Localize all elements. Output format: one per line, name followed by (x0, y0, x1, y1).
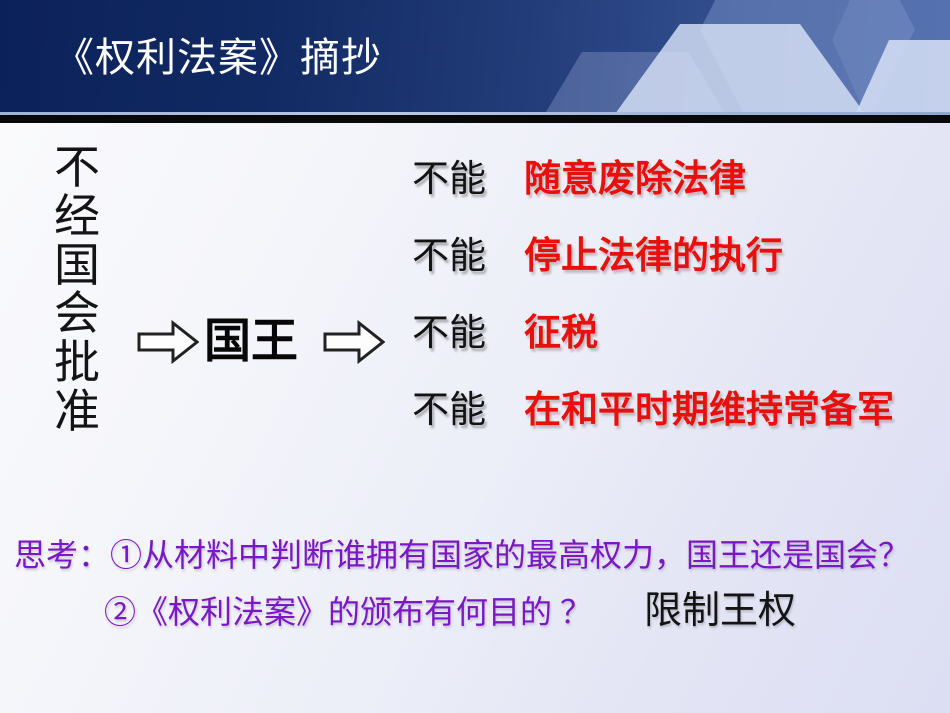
page-title: 《权利法案》摘抄 (54, 38, 382, 78)
restriction-modal-label: 不能 (412, 237, 524, 278)
restriction-list: 不能 随意废除法律 不能 停止法律的执行 不能 征税 不能 在和平时期维持常备军 (412, 160, 950, 468)
question-line-1: 思考：①从材料中判断谁拥有国家的最高权力，国王还是国会？ (14, 538, 950, 573)
vertical-clause-char: 不 (48, 144, 106, 193)
vertical-clause-text: 不 经 国 会 批 准 (48, 144, 106, 437)
restriction-row: 不能 征税 (412, 314, 950, 391)
king-diagram-group: 国王 (137, 307, 385, 377)
restriction-action-label: 在和平时期维持常备军 (524, 391, 894, 432)
block-arrow-right-icon (137, 320, 199, 364)
vertical-clause-char: 经 (48, 193, 106, 242)
header-black-band-divider (0, 115, 950, 123)
vertical-clause-char: 国 (48, 242, 106, 291)
restriction-modal-label: 不能 (412, 160, 524, 201)
restriction-action-label: 停止法律的执行 (524, 237, 783, 278)
question-block: 思考：①从材料中判断谁拥有国家的最高权力，国王还是国会？ ②《权利法案》的颁布有… (14, 538, 950, 633)
vertical-clause-char: 准 (48, 388, 106, 437)
slide-canvas: 《权利法案》摘抄 不 经 国 会 批 准 国王 不能 随意废除法律 不能 停止法… (0, 0, 950, 713)
question-line-2-text: ②《权利法案》的颁布有何目的 ？ (104, 594, 592, 630)
restriction-row: 不能 在和平时期维持常备军 (412, 391, 950, 468)
hexagon-decoration-icon (615, 24, 865, 114)
restriction-modal-label: 不能 (412, 391, 524, 432)
question-line-2: ②《权利法案》的颁布有何目的 ？ 限制王权 (14, 591, 950, 633)
answer-text: 限制王权 (644, 590, 796, 632)
restriction-modal-label: 不能 (412, 314, 524, 355)
restriction-action-label: 随意废除法律 (524, 160, 746, 201)
vertical-clause-char: 批 (48, 339, 106, 388)
hexagon-decoration-icon (832, 0, 950, 114)
slide-header-banner: 《权利法案》摘抄 (0, 0, 950, 114)
hexagon-decoration-icon (855, 40, 950, 114)
restriction-row: 不能 停止法律的执行 (412, 237, 950, 314)
king-label: 国王 (204, 319, 298, 366)
block-arrow-right-icon (323, 320, 385, 364)
restriction-action-label: 征税 (524, 314, 598, 355)
vertical-clause-char: 会 (48, 290, 106, 339)
hexagon-decoration-icon (540, 52, 730, 114)
restriction-row: 不能 随意废除法律 (412, 160, 950, 237)
hexagon-decoration-icon (700, 0, 915, 114)
